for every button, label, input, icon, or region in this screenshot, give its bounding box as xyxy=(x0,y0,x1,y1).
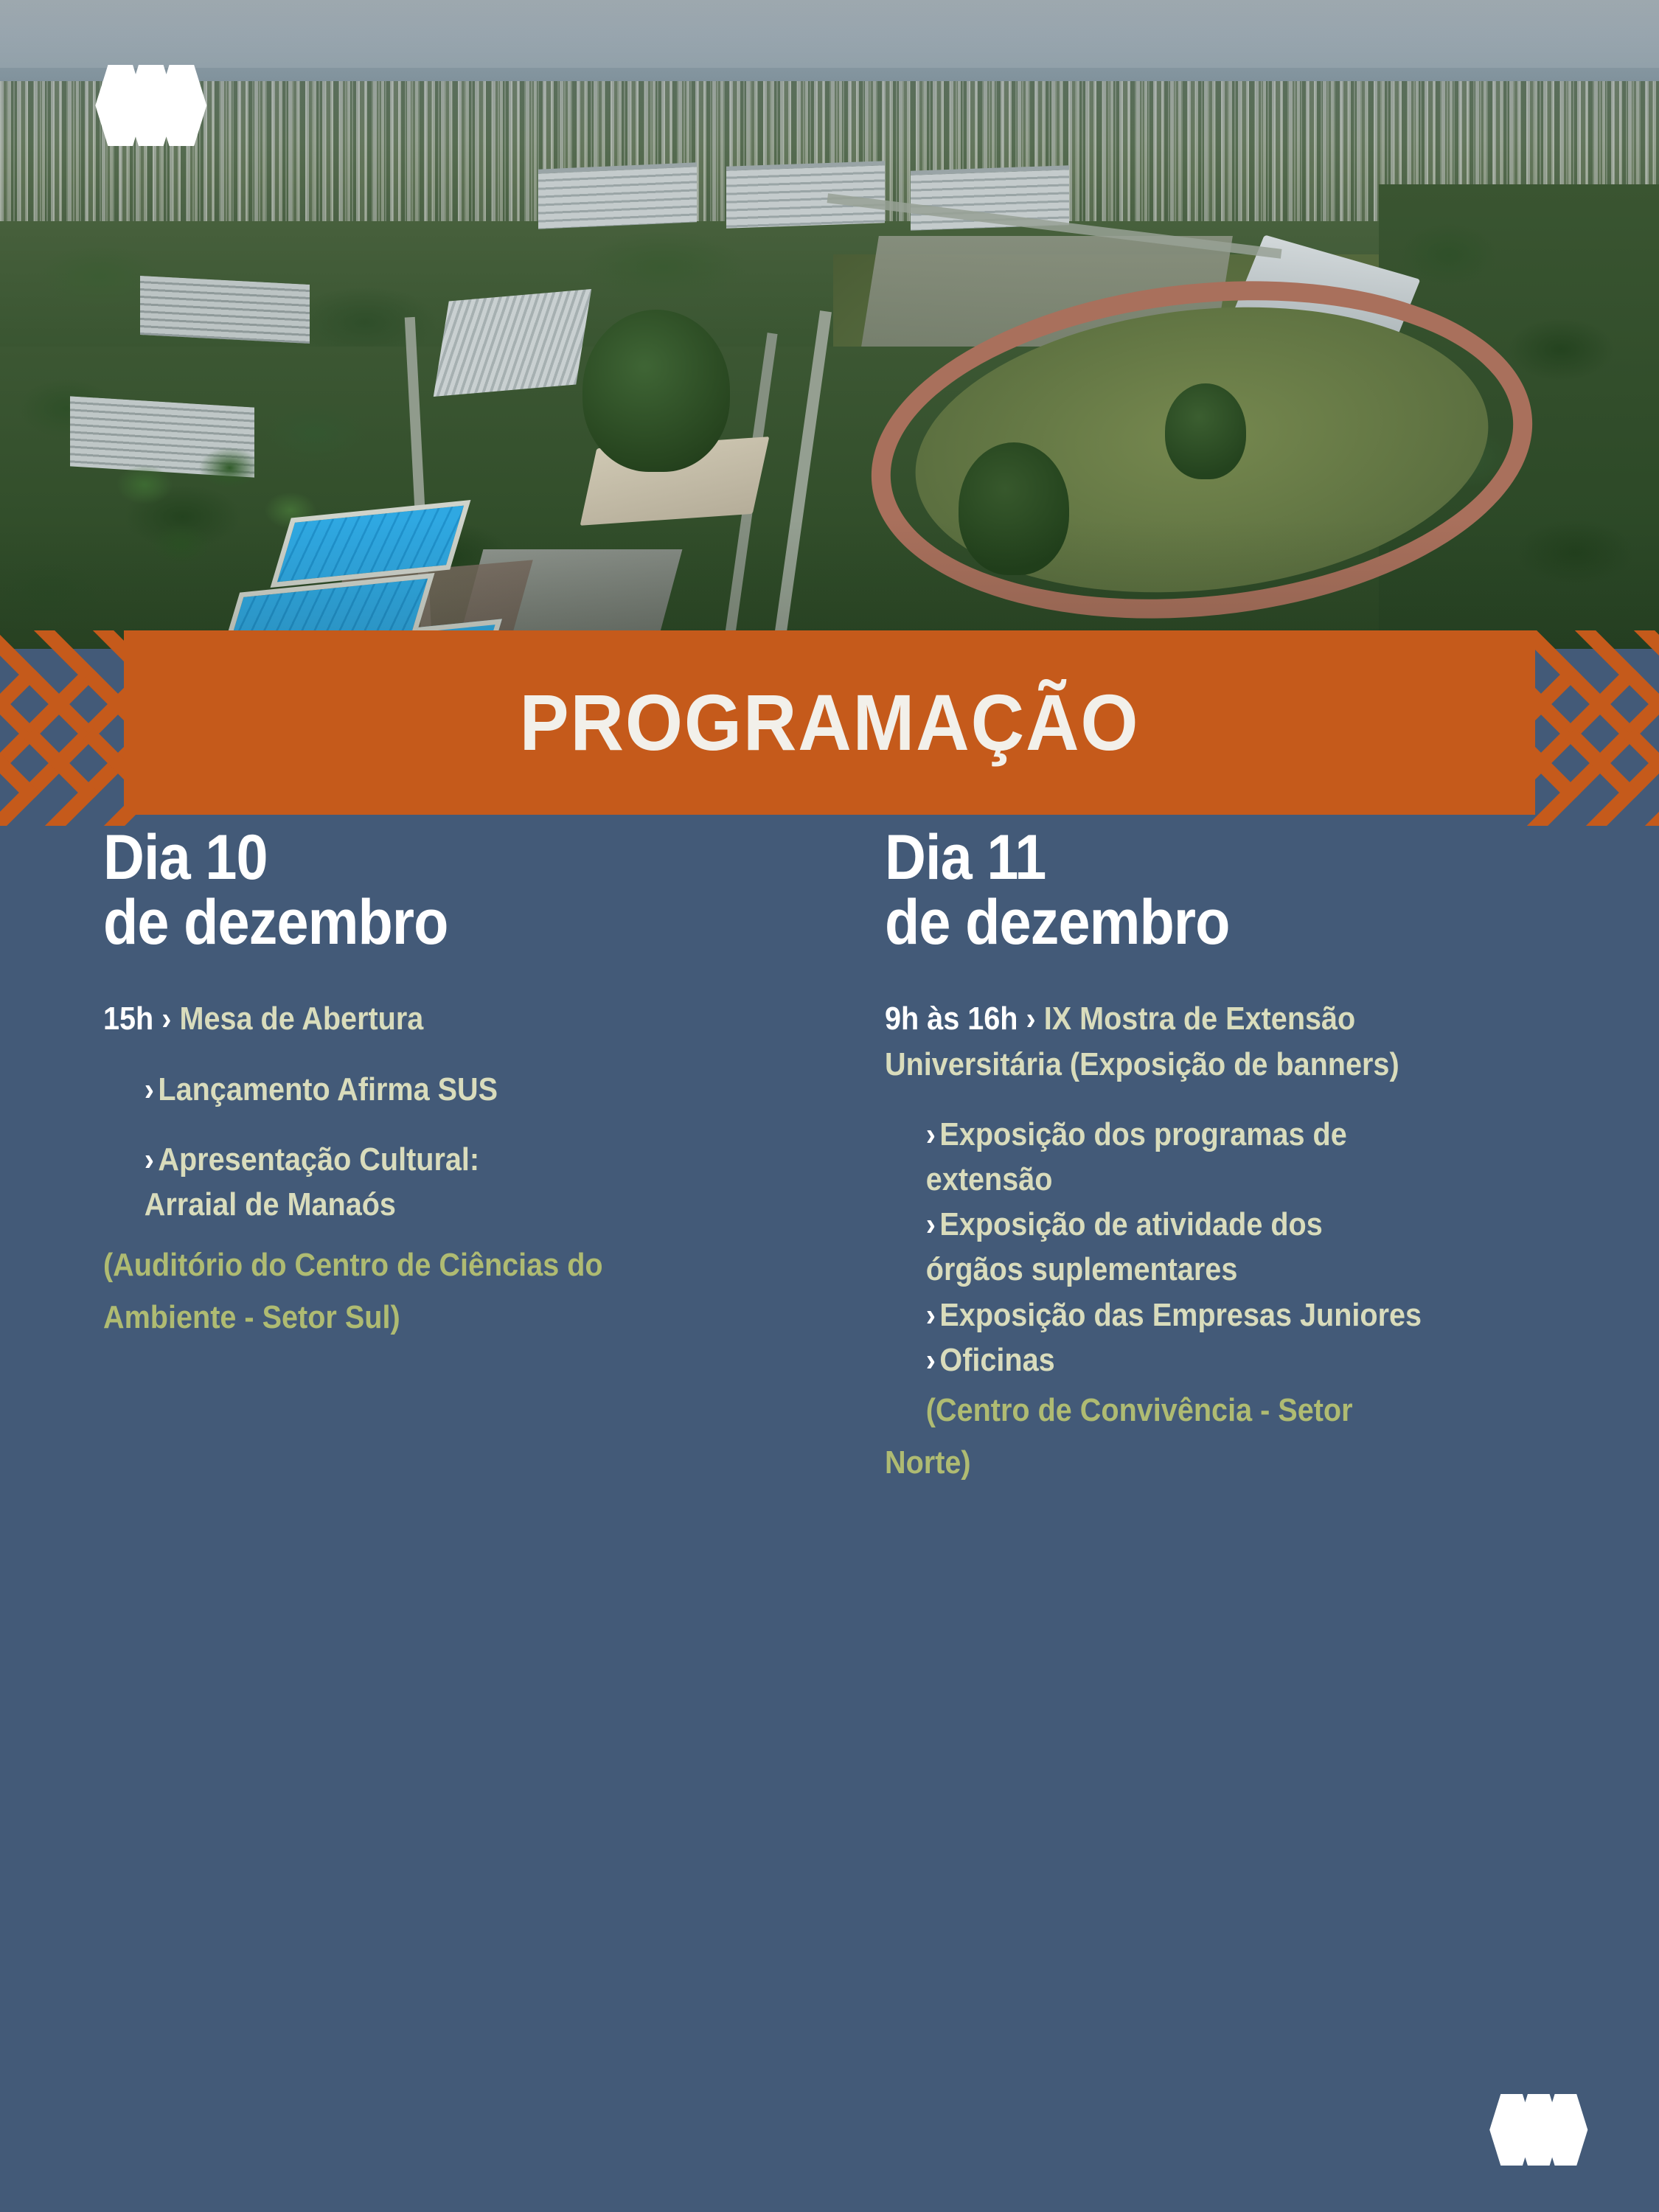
chevron-right-icon: › xyxy=(1026,1001,1036,1037)
day-column-dia-11: Dia 11 de dezembro 9h às 16h › IX Mostra… xyxy=(885,826,1637,2006)
sub-item: ›Exposição dos programas de xyxy=(885,1113,1562,1155)
ufam-logo-icon xyxy=(83,65,219,146)
schedule-entry-lead: 9h às 16h › IX Mostra de Extensão xyxy=(885,998,1562,1040)
venue-line: (Auditório do Centro de Ciências do xyxy=(103,1239,780,1291)
chevron-right-icon: › xyxy=(145,1141,154,1178)
spacer xyxy=(885,1097,1637,1113)
sub-item-continuation: Arraial de Manaós xyxy=(103,1183,780,1225)
chevron-right-icon: › xyxy=(926,1297,936,1333)
photo-vignette xyxy=(0,0,1659,649)
sub-item: ›Lançamento Afirma SUS xyxy=(103,1068,780,1110)
entry-text: IX Mostra de Extensão xyxy=(1044,1001,1356,1037)
venue-line: Ambiente - Setor Sul) xyxy=(103,1291,780,1343)
banner-title: PROGRAMAÇÃO xyxy=(520,683,1140,762)
sub-item-label: Lançamento Afirma SUS xyxy=(158,1071,498,1107)
entry-time: 9h às 16h xyxy=(885,1001,1018,1037)
sub-item: ›Apresentação Cultural: xyxy=(103,1138,780,1180)
chevron-right-icon: › xyxy=(145,1071,154,1107)
sub-item: ›Exposição de atividade dos xyxy=(885,1203,1562,1245)
day-column-dia-10: Dia 10 de dezembro 15h › Mesa de Abertur… xyxy=(103,826,855,2006)
ufam-logo-icon xyxy=(1478,2094,1599,2166)
programacao-banner: PROGRAMAÇÃO xyxy=(0,630,1659,826)
schedule-entry-lead: 15h › Mesa de Abertura xyxy=(103,998,780,1040)
sub-item-label: extensão xyxy=(926,1161,1053,1197)
banner-bar: PROGRAMAÇÃO xyxy=(124,630,1535,815)
entry-text: Mesa de Abertura xyxy=(179,1001,423,1037)
chevron-right-icon: › xyxy=(926,1116,936,1152)
sub-item-label: Oficinas xyxy=(939,1342,1054,1378)
chevron-right-icon: › xyxy=(161,1001,171,1037)
sub-item-continuation: extensão xyxy=(885,1158,1562,1200)
hero-photo xyxy=(0,0,1659,649)
lattice-ornament-right-icon xyxy=(1500,630,1659,826)
day-title-dia-11: Dia 11 de dezembro xyxy=(885,826,1562,955)
sub-item: ›Oficinas xyxy=(885,1339,1562,1381)
spacer xyxy=(103,1052,855,1068)
schedule-content: Dia 10 de dezembro 15h › Mesa de Abertur… xyxy=(0,826,1659,2006)
entry-time: 15h xyxy=(103,1001,153,1037)
sub-item: ›Exposição das Empresas Juniores xyxy=(885,1294,1562,1336)
sub-item-label: Exposição de atividade dos xyxy=(939,1206,1322,1242)
sub-item-label: órgãos suplementares xyxy=(926,1251,1238,1287)
chevron-right-icon: › xyxy=(926,1206,936,1242)
sub-item-label: Exposição dos programas de xyxy=(939,1116,1346,1152)
schedule-entry-continuation: Universitária (Exposição de banners) xyxy=(885,1043,1562,1085)
day-title-dia-10: Dia 10 de dezembro xyxy=(103,826,780,955)
sub-item-label: Apresentação Cultural: xyxy=(158,1141,479,1178)
sub-item-label: Arraial de Manaós xyxy=(145,1186,396,1222)
venue-line: (Centro de Convivência - Setor xyxy=(885,1384,1562,1436)
spacer xyxy=(103,1122,855,1138)
sub-item-label: Exposição das Empresas Juniores xyxy=(939,1297,1422,1333)
chevron-right-icon: › xyxy=(926,1342,936,1378)
venue-line: Norte) xyxy=(885,1436,1562,1489)
sub-item-continuation: órgãos suplementares xyxy=(885,1248,1562,1290)
